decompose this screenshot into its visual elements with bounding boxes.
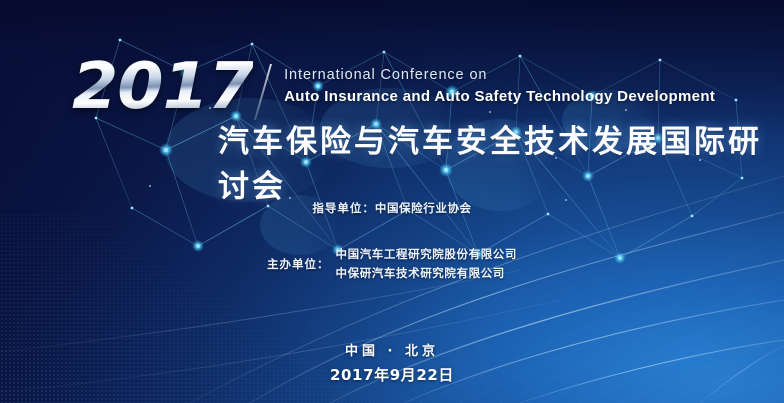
host-inner: 主办单位： 中国汽车工程研究院股份有限公司 中保研汽车技术研究院有限公司 <box>267 246 517 281</box>
header-row: 2017 International Conference on Auto In… <box>72 58 715 120</box>
slash-divider <box>254 64 272 120</box>
date-text: 2017年9月22日 <box>0 364 784 385</box>
host-organization-block: 主办单位： 中国汽车工程研究院股份有限公司 中保研汽车技术研究院有限公司 <box>0 246 784 281</box>
chinese-title: 汽车保险与汽车安全技术发展国际研讨会 <box>218 116 784 206</box>
footer-block: 中国 · 北京 2017年9月22日 <box>0 340 784 385</box>
banner-content: 2017 International Conference on Auto In… <box>0 0 784 403</box>
english-title-block: International Conference on Auto Insuran… <box>284 58 715 107</box>
conference-banner: 2017 International Conference on Auto In… <box>0 0 784 403</box>
host-value-2: 中保研汽车技术研究院有限公司 <box>336 265 518 281</box>
guidance-value: 中国保险行业协会 <box>375 200 472 216</box>
guidance-line: 指导单位： 中国保险行业协会 <box>0 200 784 216</box>
guidance-organization-block: 指导单位： 中国保险行业协会 <box>0 200 784 216</box>
location-text: 中国 · 北京 <box>0 340 784 359</box>
english-title-line2: Auto Insurance and Auto Safety Technolog… <box>284 87 715 107</box>
host-label: 主办单位： <box>267 256 330 272</box>
english-title-line1: International Conference on <box>284 66 715 85</box>
host-value-1: 中国汽车工程研究院股份有限公司 <box>336 246 518 262</box>
guidance-label: 指导单位： <box>312 200 375 216</box>
year-headline: 2017 <box>72 58 253 117</box>
host-values: 中国汽车工程研究院股份有限公司 中保研汽车技术研究院有限公司 <box>336 246 518 281</box>
